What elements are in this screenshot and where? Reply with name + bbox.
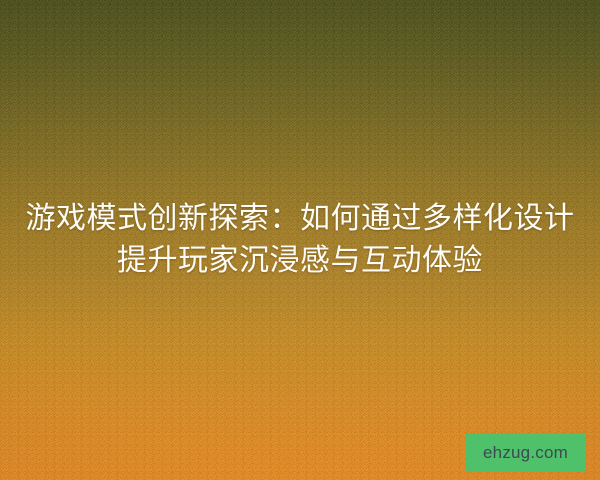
watermark-badge: ehzug.com [465,433,586,472]
cover-image: 游戏模式创新探索：如何通过多样化设计 提升玩家沉浸感与互动体验 ehzug.co… [0,0,600,480]
cover-title: 游戏模式创新探索：如何通过多样化设计 提升玩家沉浸感与互动体验 [0,198,600,282]
cover-title-line-2: 提升玩家沉浸感与互动体验 [14,240,586,282]
cover-title-line-1: 游戏模式创新探索：如何通过多样化设计 [14,198,586,240]
watermark-label: ehzug.com [483,444,568,461]
